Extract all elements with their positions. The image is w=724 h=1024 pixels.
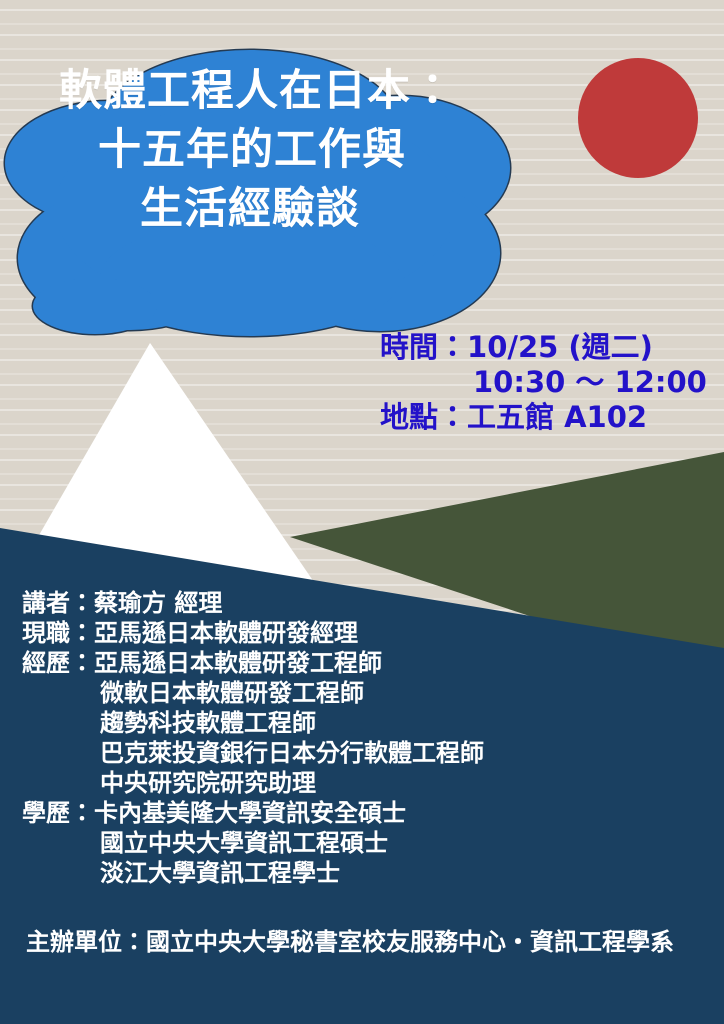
time-date: 10/25 (週二) — [467, 330, 653, 364]
speaker-info-label: 學歷： — [22, 799, 94, 827]
event-place-row: 地點：工五館 A102 — [380, 400, 707, 435]
speaker-info-row: 微軟日本軟體研發工程師 — [22, 678, 484, 708]
speaker-info-row: 趨勢科技軟體工程師 — [22, 708, 484, 738]
red-sun-disc — [578, 58, 698, 178]
title-line-3: 生活經驗談 — [0, 180, 500, 239]
time-label: 時間： — [380, 330, 467, 364]
speaker-info-value: 亞馬遜日本軟體研發工程師 — [94, 649, 382, 677]
speaker-info-row: 現職：亞馬遜日本軟體研發經理 — [22, 618, 484, 648]
speaker-info-value: 蔡瑜方 經理 — [94, 589, 222, 617]
speaker-info-label: 經歷： — [22, 649, 94, 677]
speaker-info-value: 微軟日本軟體研發工程師 — [100, 679, 364, 707]
event-time-row: 時間：10/25 (週二) — [380, 330, 707, 365]
speaker-info-value: 趨勢科技軟體工程師 — [100, 709, 316, 737]
speaker-info-value: 巴克萊投資銀行日本分行軟體工程師 — [100, 739, 484, 767]
speaker-info-row: 學歷：卡內基美隆大學資訊安全碩士 — [22, 798, 484, 828]
time-range: 10:30 ～ 12:00 — [473, 365, 707, 399]
speaker-info-value: 中央研究院研究助理 — [100, 769, 316, 797]
event-details: 時間：10/25 (週二) 10:30 ～ 12:00 地點：工五館 A102 — [380, 330, 707, 435]
organizer-line: 主辦單位：國立中央大學秘書室校友服務中心・資訊工程學系 — [26, 927, 674, 957]
event-time-range-row: 10:30 ～ 12:00 — [380, 365, 707, 400]
speaker-info: 講者：蔡瑜方 經理現職：亞馬遜日本軟體研發經理經歷：亞馬遜日本軟體研發工程師微軟… — [22, 588, 484, 888]
place-value: 工五館 A102 — [467, 400, 647, 434]
title-line-1: 軟體工程人在日本： — [0, 62, 500, 121]
speaker-info-row: 巴克萊投資銀行日本分行軟體工程師 — [22, 738, 484, 768]
speaker-info-row: 淡江大學資訊工程學士 — [22, 858, 484, 888]
speaker-info-row: 國立中央大學資訊工程碩士 — [22, 828, 484, 858]
speaker-info-row: 中央研究院研究助理 — [22, 768, 484, 798]
speaker-info-value: 卡內基美隆大學資訊安全碩士 — [94, 799, 406, 827]
speaker-info-row: 經歷：亞馬遜日本軟體研發工程師 — [22, 648, 484, 678]
title-line-2: 十五年的工作與 — [0, 121, 500, 180]
place-label: 地點： — [380, 400, 467, 434]
page-title: 軟體工程人在日本： 十五年的工作與 生活經驗談 — [0, 62, 500, 239]
speaker-info-value: 淡江大學資訊工程學士 — [100, 859, 340, 887]
speaker-info-value: 國立中央大學資訊工程碩士 — [100, 829, 388, 857]
speaker-info-row: 講者：蔡瑜方 經理 — [22, 588, 484, 618]
speaker-info-value: 亞馬遜日本軟體研發經理 — [94, 619, 358, 647]
poster-canvas: 軟體工程人在日本： 十五年的工作與 生活經驗談 時間：10/25 (週二) 10… — [0, 0, 724, 1024]
speaker-info-label: 現職： — [22, 619, 94, 647]
speaker-info-label: 講者： — [22, 589, 94, 617]
